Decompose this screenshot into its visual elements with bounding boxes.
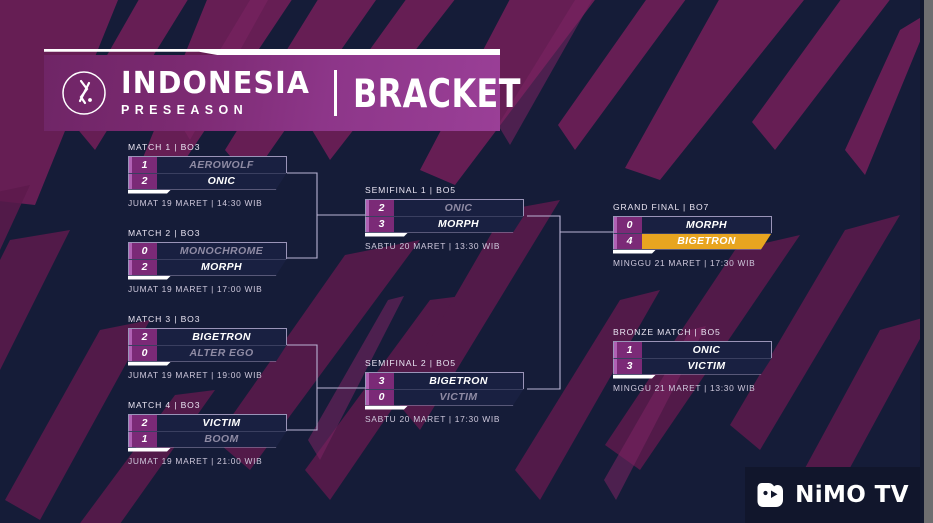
match-datetime: MINGGU 21 MARET | 13:30 WIB — [613, 383, 772, 393]
match-label: MATCH 4 | BO3 — [128, 400, 287, 410]
match-card[interactable]: SEMIFINAL 2 | BO53BIGETRON0VICTIMSABTU 2… — [365, 358, 524, 424]
match-row[interactable]: 1BOOM — [128, 431, 287, 448]
card-underline-accent — [128, 190, 171, 194]
tournament-emblem-icon — [60, 69, 108, 117]
match-row[interactable]: 3BIGETRON — [365, 372, 524, 389]
title-divider — [334, 70, 337, 116]
match-label: GRAND FINAL | BO7 — [613, 202, 772, 212]
team-score: 1 — [614, 342, 642, 358]
match-datetime: SABTU 20 MARET | 17:30 WIB — [365, 414, 524, 424]
team-name: ONIC — [642, 342, 771, 358]
team-score: 0 — [129, 243, 157, 259]
match-card[interactable]: MATCH 4 | BO32VICTIM1BOOMJUMAT 19 MARET … — [128, 400, 287, 466]
match-row[interactable]: 1ONIC — [613, 341, 772, 358]
card-underline-accent — [128, 448, 171, 452]
match-scoreboard: 2BIGETRON0ALTER EGO — [128, 328, 287, 362]
match-datetime: MINGGU 21 MARET | 17:30 WIB — [613, 258, 772, 268]
team-score: 3 — [614, 359, 642, 374]
match-label: MATCH 3 | BO3 — [128, 314, 287, 324]
team-score: 2 — [129, 415, 157, 431]
match-card[interactable]: MATCH 2 | BO30MONOCHROME2MORPHJUMAT 19 M… — [128, 228, 287, 294]
match-label: MATCH 2 | BO3 — [128, 228, 287, 238]
event-banner: INDONESIA PRESEASON BRACKET — [44, 55, 500, 131]
match-card[interactable]: MATCH 3 | BO32BIGETRON0ALTER EGOJUMAT 19… — [128, 314, 287, 380]
team-name: ONIC — [157, 174, 287, 189]
team-name: MORPH — [157, 260, 287, 275]
match-card[interactable]: BRONZE MATCH | BO51ONIC3VICTIMMINGGU 21 … — [613, 327, 772, 393]
match-label: MATCH 1 | BO3 — [128, 142, 287, 152]
match-label: SEMIFINAL 1 | BO5 — [365, 185, 524, 195]
team-name: VICTIM — [642, 359, 772, 374]
match-row[interactable]: 0ALTER EGO — [128, 345, 287, 362]
match-label: SEMIFINAL 2 | BO5 — [365, 358, 524, 368]
team-name: ONIC — [394, 200, 523, 216]
match-scoreboard: 0MONOCHROME2MORPH — [128, 242, 287, 276]
event-title: INDONESIA — [121, 69, 310, 99]
card-underline-accent — [365, 406, 408, 410]
match-label: BRONZE MATCH | BO5 — [613, 327, 772, 337]
team-name: ALTER EGO — [157, 346, 287, 361]
match-card[interactable]: GRAND FINAL | BO70MORPH4BIGETRONMINGGU 2… — [613, 202, 772, 268]
match-row[interactable]: 3MORPH — [365, 216, 524, 233]
nimo-tv-watermark: NiMO TV — [745, 467, 920, 523]
team-score: 3 — [366, 217, 394, 232]
team-score: 2 — [129, 174, 157, 189]
match-card[interactable]: SEMIFINAL 1 | BO52ONIC3MORPHSABTU 20 MAR… — [365, 185, 524, 251]
match-row[interactable]: 2MORPH — [128, 259, 287, 276]
team-score: 0 — [129, 346, 157, 361]
team-name: BIGETRON — [394, 373, 523, 389]
card-underline-accent — [128, 362, 171, 366]
team-score: 2 — [129, 260, 157, 275]
match-scoreboard: 2ONIC3MORPH — [365, 199, 524, 233]
match-row[interactable]: 0MONOCHROME — [128, 242, 287, 259]
team-score: 0 — [614, 217, 642, 233]
match-datetime: SABTU 20 MARET | 13:30 WIB — [365, 241, 524, 251]
match-datetime: JUMAT 19 MARET | 17:00 WIB — [128, 284, 287, 294]
match-row-champion[interactable]: 4BIGETRON — [613, 233, 772, 250]
match-scoreboard: 2VICTIM1BOOM — [128, 414, 287, 448]
team-name: BIGETRON — [642, 234, 772, 249]
team-score: 1 — [129, 157, 157, 173]
match-row[interactable]: 2BIGETRON — [128, 328, 287, 345]
team-score: 2 — [129, 329, 157, 345]
page-title: BRACKET — [353, 70, 521, 116]
nimo-tv-label: NiMO TV — [795, 482, 909, 508]
team-name: BOOM — [157, 432, 287, 447]
match-datetime: JUMAT 19 MARET | 14:30 WIB — [128, 198, 287, 208]
match-scoreboard: 1ONIC3VICTIM — [613, 341, 772, 375]
match-row[interactable]: 2ONIC — [128, 173, 287, 190]
team-name: MORPH — [642, 217, 771, 233]
card-underline-accent — [613, 250, 656, 254]
match-row[interactable]: 1AEROWOLF — [128, 156, 287, 173]
match-scoreboard: 1AEROWOLF2ONIC — [128, 156, 287, 190]
team-name: MORPH — [394, 217, 524, 232]
team-score: 1 — [129, 432, 157, 447]
nimo-tv-logo-icon — [756, 480, 786, 510]
team-score: 0 — [366, 390, 394, 405]
match-scoreboard: 3BIGETRON0VICTIM — [365, 372, 524, 406]
match-scoreboard: 0MORPH4BIGETRON — [613, 216, 772, 250]
team-name: BIGETRON — [157, 329, 286, 345]
card-underline-accent — [365, 233, 408, 237]
event-subtitle: PRESEASON — [121, 103, 320, 117]
team-score: 2 — [366, 200, 394, 216]
match-row[interactable]: 3VICTIM — [613, 358, 772, 375]
match-row[interactable]: 0MORPH — [613, 216, 772, 233]
team-name: AEROWOLF — [157, 157, 286, 173]
match-datetime: JUMAT 19 MARET | 19:00 WIB — [128, 370, 287, 380]
match-row[interactable]: 2VICTIM — [128, 414, 287, 431]
team-score: 3 — [366, 373, 394, 389]
team-score: 4 — [614, 234, 642, 249]
match-card[interactable]: MATCH 1 | BO31AEROWOLF2ONICJUMAT 19 MARE… — [128, 142, 287, 208]
card-underline-accent — [128, 276, 171, 280]
bracket-stage: INDONESIA PRESEASON BRACKET MATCH 1 | BO… — [0, 0, 933, 523]
match-row[interactable]: 0VICTIM — [365, 389, 524, 406]
match-row[interactable]: 2ONIC — [365, 199, 524, 216]
card-underline-accent — [613, 375, 656, 379]
right-edge-border — [924, 0, 933, 523]
match-datetime: JUMAT 19 MARET | 21:00 WIB — [128, 456, 287, 466]
team-name: VICTIM — [394, 390, 524, 405]
team-name: VICTIM — [157, 415, 286, 431]
team-name: MONOCHROME — [157, 243, 286, 259]
